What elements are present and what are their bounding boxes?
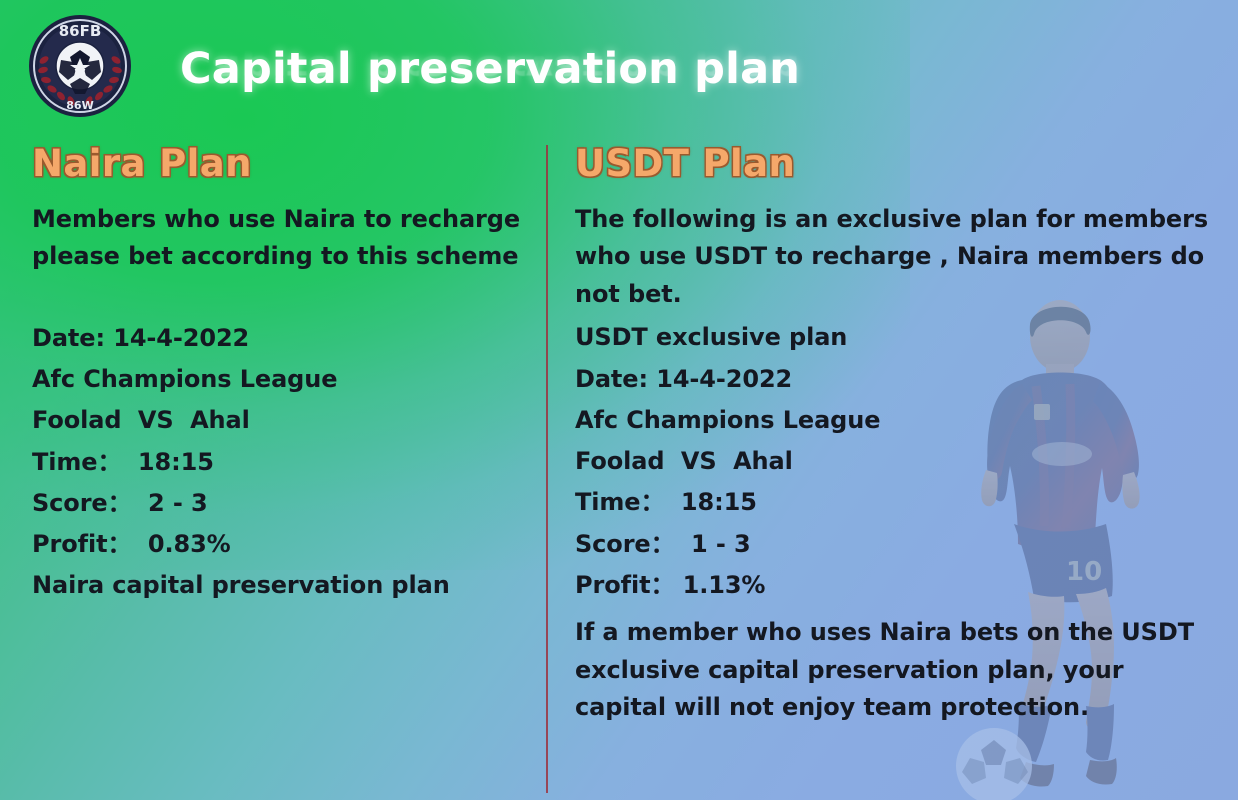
list-item: Naira capital preservation plan [32,565,532,606]
naira-plan-heading: Naira Plan [32,142,532,185]
spacer [575,606,1220,614]
usdt-plan-details: USDT exclusive plan Date: 14-4-2022 Afc … [575,317,1220,606]
spacer [32,276,532,318]
list-item: Profit： 0.83% [32,524,532,565]
poster-header: 86FB 86W Capital preservation plan Capit… [0,0,1238,136]
usdt-plan-heading: USDT Plan [575,142,1220,185]
naira-plan-intro: Members who use Naira to recharge please… [32,201,532,276]
list-item: Foolad VS Ahal [32,400,532,441]
list-item: Profit： 1.13% [575,565,1220,606]
capital-preservation-plan-poster: 10 [0,0,1238,800]
list-item: Date: 14-4-2022 [32,318,532,359]
usdt-plan-intro: The following is an exclusive plan for m… [575,201,1220,313]
naira-plan-column: Naira Plan Members who use Naira to rech… [32,142,532,607]
list-item: Afc Champions League [32,359,532,400]
usdt-plan-column: USDT Plan The following is an exclusive … [575,142,1220,726]
badge-top-text: 86FB [59,22,102,40]
list-item: Time： 18:15 [575,482,1220,523]
usdt-plan-footer: If a member who uses Naira bets on the U… [575,614,1220,726]
86fb-badge-icon: 86FB 86W [28,14,132,118]
naira-plan-details: Date: 14-4-2022 Afc Champions League Foo… [32,318,532,607]
list-item: Score： 2 - 3 [32,483,532,524]
list-item: Foolad VS Ahal [575,441,1220,482]
column-divider [546,145,548,793]
list-item: Afc Champions League [575,400,1220,441]
list-item: Time： 18:15 [32,442,532,483]
list-item: Date: 14-4-2022 [575,359,1220,400]
page-title: Capital preservation plan [180,44,800,94]
badge-bottom-text: 86W [66,99,93,112]
list-item: Score： 1 - 3 [575,524,1220,565]
usdt-plan-subtitle: USDT exclusive plan [575,317,1220,358]
